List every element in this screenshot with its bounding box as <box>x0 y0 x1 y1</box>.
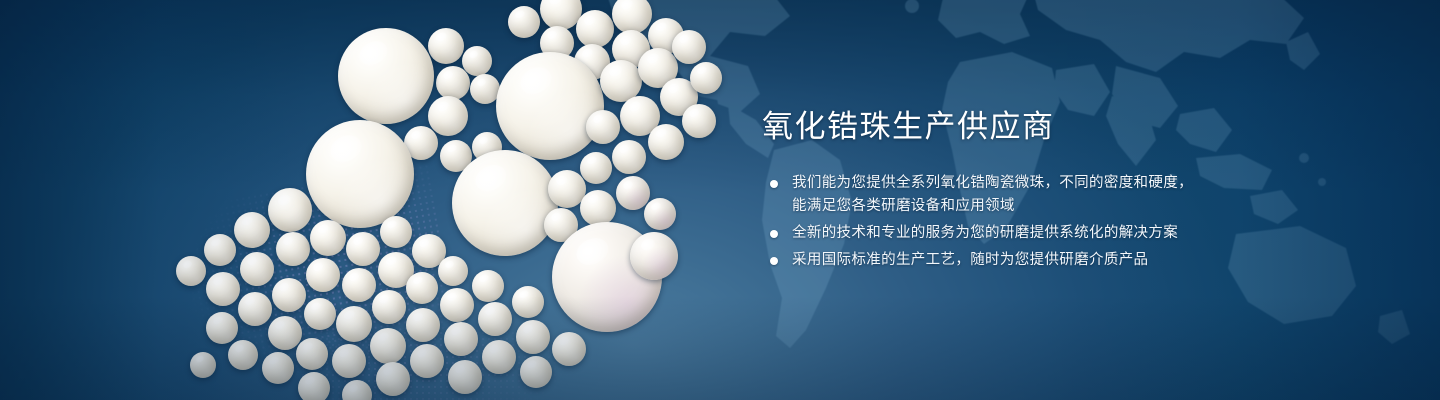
list-item: 全新的技术和专业的服务为您的研磨提供系统化的解决方案 <box>762 222 1302 245</box>
hero-banner: 氧化锆珠生产供应商 我们能为您提供全系列氧化锆陶瓷微珠，不同的密度和硬度， 能满… <box>0 0 1440 400</box>
bullet-text-line1: 我们能为您提供全系列氧化锆陶瓷微珠，不同的密度和硬度， <box>792 175 1193 191</box>
page-title: 氧化锆珠生产供应商 <box>762 108 1302 146</box>
bullet-dot-icon <box>770 257 778 265</box>
bullet-text-line1: 采用国际标准的生产工艺，随时为您提供研磨介质产品 <box>792 252 1148 268</box>
list-item: 采用国际标准的生产工艺，随时为您提供研磨介质产品 <box>762 249 1302 272</box>
bullet-text-line1: 全新的技术和专业的服务为您的研磨提供系统化的解决方案 <box>792 225 1178 241</box>
bullet-dot-icon <box>770 180 778 188</box>
list-item: 我们能为您提供全系列氧化锆陶瓷微珠，不同的密度和硬度， 能满足您各类研磨设备和应… <box>762 172 1302 218</box>
bullet-text-line2: 能满足您各类研磨设备和应用领域 <box>792 195 1302 218</box>
feature-list: 我们能为您提供全系列氧化锆陶瓷微珠，不同的密度和硬度， 能满足您各类研磨设备和应… <box>762 172 1302 272</box>
banner-copy: 氧化锆珠生产供应商 我们能为您提供全系列氧化锆陶瓷微珠，不同的密度和硬度， 能满… <box>762 108 1302 276</box>
bullet-dot-icon <box>770 230 778 238</box>
